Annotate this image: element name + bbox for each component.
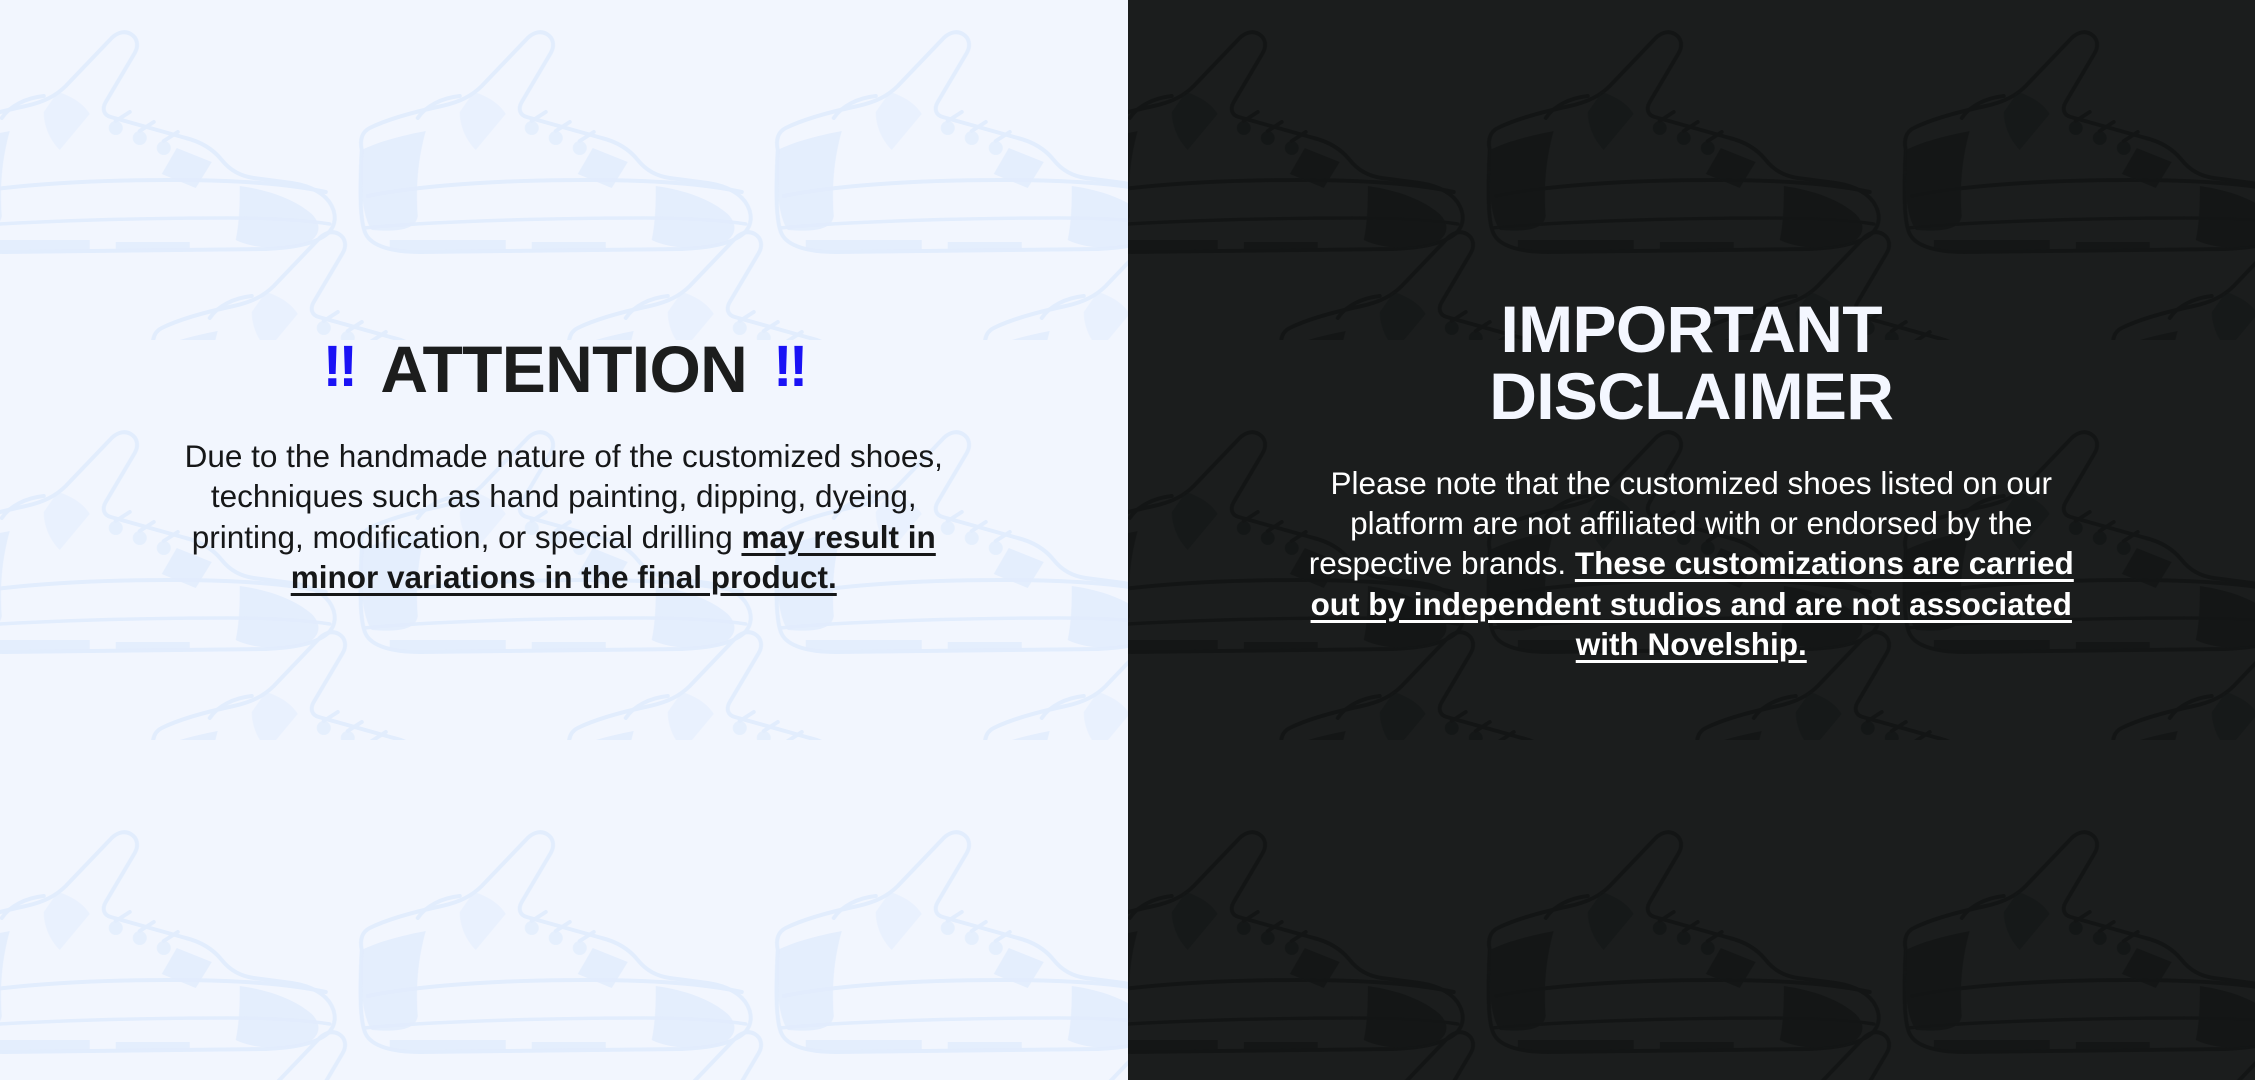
disclaimer-heading: IMPORTANT DISCLAIMER [1489, 296, 1893, 431]
double-exclamation-icon-right: ‼ [773, 338, 805, 396]
attention-content: ‼ ATTENTION ‼ Due to the handmade nature… [0, 0, 1128, 597]
attention-heading: ‼ ATTENTION ‼ [323, 336, 805, 402]
disclaimer-panel: IMPORTANT DISCLAIMER Please note that th… [1128, 0, 2255, 1080]
attention-heading-text: ATTENTION [380, 336, 747, 402]
attention-body: Due to the handmade nature of the custom… [169, 436, 959, 597]
disclaimer-heading-line-1: IMPORTANT [1501, 292, 1882, 366]
disclaimer-content: IMPORTANT DISCLAIMER Please note that th… [1128, 0, 2255, 664]
attention-panel: ‼ ATTENTION ‼ Due to the handmade nature… [0, 0, 1128, 1080]
disclaimer-heading-line-2: DISCLAIMER [1489, 359, 1893, 433]
disclaimer-banner: ‼ ATTENTION ‼ Due to the handmade nature… [0, 0, 2255, 1080]
double-exclamation-icon-left: ‼ [323, 338, 355, 396]
disclaimer-body: Please note that the customized shoes li… [1296, 463, 2086, 665]
